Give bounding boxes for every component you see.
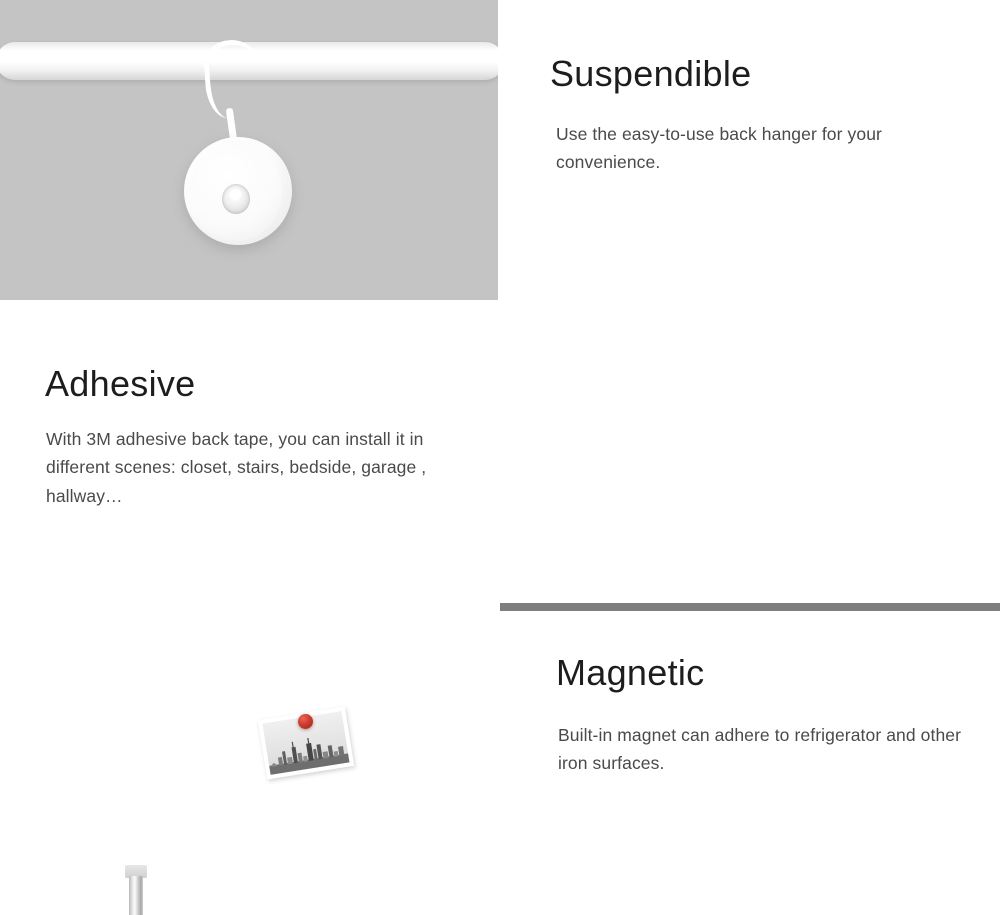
city-skyline-icon bbox=[266, 731, 350, 775]
feature-grid-page: Suspendible Use the easy-to-use back han… bbox=[0, 0, 1000, 915]
panel-hanging-photo bbox=[0, 0, 498, 300]
motion-sensor-dot bbox=[230, 189, 241, 200]
fridge-handle-bar bbox=[129, 876, 143, 915]
adhesive-body: With 3M adhesive back tape, you can inst… bbox=[46, 425, 471, 510]
magnetic-body: Built-in magnet can adhere to refrigerat… bbox=[558, 721, 978, 778]
adhesive-heading: Adhesive bbox=[45, 365, 196, 403]
suspendible-heading: Suspendible bbox=[550, 55, 751, 93]
panel-magnetic: Magnetic Built-in magnet can adhere to r… bbox=[500, 611, 1000, 915]
back-hanger-hook-icon bbox=[202, 38, 261, 120]
panel-adhesive: Adhesive With 3M adhesive back tape, you… bbox=[0, 303, 498, 608]
magnetic-heading: Magnetic bbox=[556, 654, 704, 692]
suspendible-body: Use the easy-to-use back hanger for your… bbox=[556, 120, 976, 177]
panel-suspendible: Suspendible Use the easy-to-use back han… bbox=[500, 0, 1000, 300]
red-magnet-icon bbox=[298, 714, 313, 729]
